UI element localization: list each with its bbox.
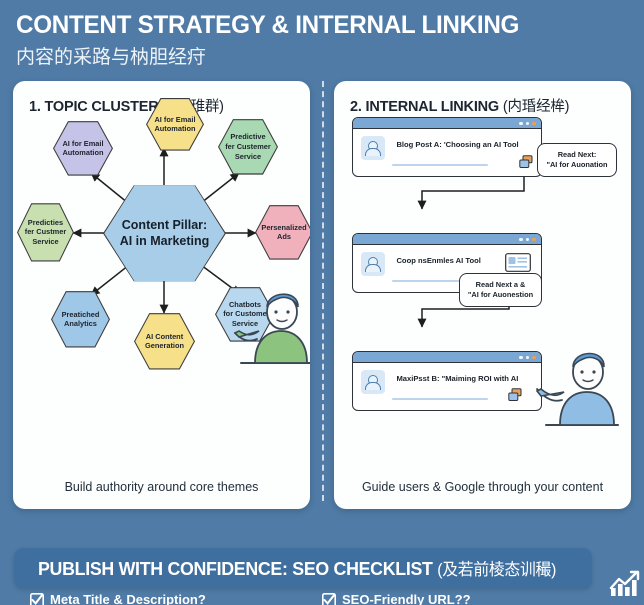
hex-center-line2: AI in Marketing	[120, 234, 210, 248]
panel-topic-clusters-caption: Build authority around core themes	[13, 480, 310, 496]
text-column	[361, 290, 443, 294]
hex-label: PreatichedAnalytics	[62, 310, 100, 330]
window-body: Blog Post A: 'Choosing an AI Tool	[353, 129, 541, 176]
window-dot-icon	[519, 356, 523, 360]
callout-read-next-1[interactable]: Read Next: "AI for Auonation	[537, 143, 617, 177]
link-chain-icon	[508, 388, 523, 402]
browser-window-blog-post-a[interactable]: Blog Post A: 'Choosing an AI Tool	[352, 117, 542, 177]
callout-line2: "AI for Auonestion	[468, 290, 533, 299]
window-dot-icon	[526, 122, 530, 126]
text-column	[361, 408, 443, 412]
hex-center-label: Content Pillar: AI in Marketing	[120, 217, 210, 250]
text-placeholder-lines	[361, 408, 533, 412]
hex-label: Predictiesfer CustmerService	[25, 218, 66, 247]
window-dot-icon	[526, 356, 530, 360]
cta-text-cjk: (及若前棱态训穝)	[438, 561, 557, 579]
checklist-item-seo-url[interactable]: SEO-Friendly URL??	[322, 594, 614, 605]
person-pointing-illustration	[229, 281, 310, 377]
hex-label: PersenalizedAds	[261, 223, 306, 243]
panel-internal-linking-caption: Guide users & Google through your conten…	[334, 480, 631, 496]
hex-label: Predictivefer CustemerService	[225, 132, 271, 161]
callout-line1: Read Next a &	[476, 280, 526, 289]
page-title: CONTENT STRATEGY & INTERNAL LINKING	[16, 12, 625, 40]
seo-checklist-title: PUBLISH WITH CONFIDENCE: SEO CHECKLIST (…	[38, 556, 556, 580]
window-dot-icon	[526, 238, 530, 242]
panels-container: 1. TOPIC CLUSTERS (圲琟𡰯群)	[0, 81, 644, 509]
window-dot-icon	[519, 122, 523, 126]
text-placeholder-lines	[361, 174, 533, 178]
hex-label: AI ContentGeneration	[145, 332, 184, 352]
text-column	[452, 408, 534, 412]
person-pointing-illustration-2	[532, 339, 624, 439]
cta-text-en: PUBLISH WITH CONFIDENCE: SEO CHECKLIST	[38, 558, 433, 579]
page-subtitle: 内容的采路与枘胆经疛	[16, 47, 644, 69]
clipboard-avatar	[361, 370, 385, 394]
window-heading: Blog Post A: 'Choosing an AI Tool	[396, 136, 518, 149]
checklist-label: SEO-Friendly URL??	[342, 592, 471, 605]
article-layout-icon	[505, 253, 531, 272]
hex-center-line1: Content Pillar:	[122, 218, 207, 232]
window-heading: MaxiPsst B: "Maiming ROI with AI	[396, 370, 518, 383]
seo-checklist-banner[interactable]: PUBLISH WITH CONFIDENCE: SEO CHECKLIST (…	[14, 548, 592, 588]
check-square-icon	[322, 593, 336, 605]
panel-topic-clusters[interactable]: 1. TOPIC CLUSTERS (圲琟𡰯群)	[13, 81, 310, 509]
callout-text: Read Next: "AI for Auonation	[546, 150, 607, 171]
window-heading: Coop nsEnmles AI Tool	[396, 252, 480, 265]
callout-line1: Read Next:	[558, 150, 597, 159]
check-square-icon	[30, 593, 44, 605]
window-titlebar	[353, 352, 541, 363]
callout-text: Read Next a & "AI for Auonestion	[468, 280, 533, 301]
divider	[392, 164, 488, 165]
divider	[392, 398, 488, 399]
window-dot-icon	[519, 238, 523, 242]
checklist-item-meta-title[interactable]: Meta Title & Description?	[30, 594, 322, 605]
checklist-row: Meta Title & Description? SEO-Friendly U…	[14, 588, 630, 605]
callout-read-next-2[interactable]: Read Next a & "AI for Auonestion	[459, 273, 542, 307]
text-column	[361, 174, 443, 178]
avatar	[361, 136, 385, 160]
panel-divider	[322, 81, 324, 501]
text-column	[452, 174, 534, 178]
hex-label: AI for EmailAutomation	[154, 115, 195, 135]
panel-internal-linking[interactable]: 2. INTERNAL LINKING (内琘经桙)	[334, 81, 631, 509]
avatar	[361, 252, 385, 276]
hex-label: AI for EmailAutomation	[62, 139, 103, 159]
window-body: MaxiPsst B: "Maiming ROI with AI	[353, 363, 541, 410]
callout-line2: "AI for Auonation	[546, 160, 607, 169]
window-dot-icon	[532, 238, 536, 242]
window-titlebar	[353, 234, 541, 245]
trending-chart-icon	[608, 568, 642, 598]
page-header: CONTENT STRATEGY & INTERNAL LINKING 内容的采…	[0, 0, 644, 68]
topic-cluster-diagram: AI for EmailAutomation AI for EmailAutom…	[13, 81, 310, 509]
window-titlebar	[353, 118, 541, 129]
seo-checklist-section: PUBLISH WITH CONFIDENCE: SEO CHECKLIST (…	[0, 548, 644, 605]
link-chain-icon	[519, 155, 534, 169]
checklist-label: Meta Title & Description?	[50, 592, 206, 605]
window-dot-icon	[532, 122, 536, 126]
browser-window-maximizing-roi[interactable]: MaxiPsst B: "Maiming ROI with AI	[352, 351, 542, 411]
